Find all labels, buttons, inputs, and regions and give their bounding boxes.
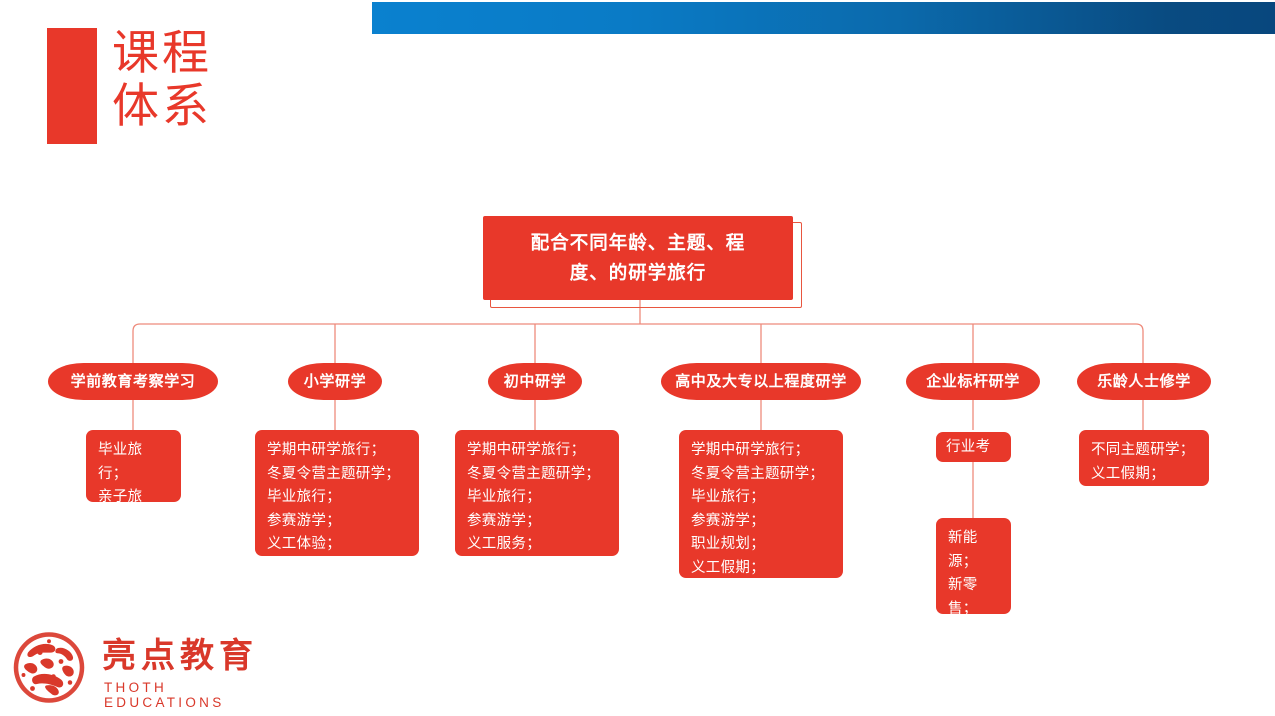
- content-box-text: 学期中研学旅行； 冬夏令营主题研学； 毕业旅行； 参赛游学； 职业规划； 义工假…: [691, 439, 831, 580]
- logo-en-text: THOTH EDUCATIONS: [104, 680, 265, 710]
- content-box-junior-high[interactable]: 学期中研学旅行； 冬夏令营主题研学； 毕业旅行； 参赛游学； 义工服务；: [455, 430, 619, 556]
- content-box-text: 学期中研学旅行； 冬夏令营主题研学； 毕业旅行； 参赛游学； 义工体验；: [267, 439, 407, 557]
- root-node[interactable]: 配合不同年龄、主题、程 度、的研学旅行: [483, 216, 793, 300]
- content-box-preschool[interactable]: 毕业旅行； 亲子旅行； 插班体验；: [86, 430, 181, 502]
- logo-circle-icon: [10, 630, 88, 705]
- category-header-preschool[interactable]: 学前教育考察学习: [48, 363, 218, 400]
- title-accent-bar: [47, 28, 97, 144]
- content-box-enterprise-secondary[interactable]: 新能源； 新零售； 新技术； 养老；: [936, 518, 1011, 614]
- content-box-text: 毕业旅行； 亲子旅行； 插班体验；: [98, 439, 169, 580]
- page-title: 课程 体系: [112, 27, 372, 133]
- content-box-text: 新能源； 新零售； 新技术； 养老；: [948, 527, 999, 692]
- top-banner: [372, 2, 1275, 34]
- category-header-junior-high[interactable]: 初中研学: [488, 363, 582, 400]
- content-box-senior-high[interactable]: 学期中研学旅行； 冬夏令营主题研学； 毕业旅行； 参赛游学； 职业规划； 义工假…: [679, 430, 843, 578]
- content-box-text: 不同主题研学； 义工假期；: [1091, 439, 1197, 486]
- root-node-label: 配合不同年龄、主题、程 度、的研学旅行: [531, 228, 746, 288]
- content-box-primary[interactable]: 学期中研学旅行； 冬夏令营主题研学； 毕业旅行； 参赛游学； 义工体验；: [255, 430, 419, 556]
- category-header-label: 小学研学: [304, 374, 366, 389]
- category-header-label: 企业标杆研学: [926, 374, 1020, 389]
- logo-cn-text: 亮点教育: [102, 637, 258, 675]
- content-box-enterprise-primary[interactable]: 行业考察: [936, 432, 1011, 462]
- brand-logo: 亮点教育 THOTH EDUCATIONS: [10, 630, 265, 705]
- content-box-senior-citizen[interactable]: 不同主题研学； 义工假期；: [1079, 430, 1209, 486]
- category-header-label: 乐龄人士修学: [1097, 374, 1191, 389]
- content-box-text: 行业考察: [946, 436, 1001, 483]
- category-header-enterprise[interactable]: 企业标杆研学: [906, 363, 1040, 400]
- content-box-text: 学期中研学旅行； 冬夏令营主题研学； 毕业旅行； 参赛游学； 义工服务；: [467, 439, 607, 557]
- slide-canvas: 课程 体系 配合不同年龄、主题、程 度、的研学旅行: [0, 0, 1275, 716]
- category-header-label: 初中研学: [504, 374, 566, 389]
- category-header-label: 高中及大专以上程度研学: [675, 374, 847, 389]
- category-header-senior-citizen[interactable]: 乐龄人士修学: [1077, 363, 1211, 400]
- category-header-primary[interactable]: 小学研学: [288, 363, 382, 400]
- category-header-senior-high[interactable]: 高中及大专以上程度研学: [661, 363, 861, 400]
- category-header-label: 学前教育考察学习: [71, 374, 196, 389]
